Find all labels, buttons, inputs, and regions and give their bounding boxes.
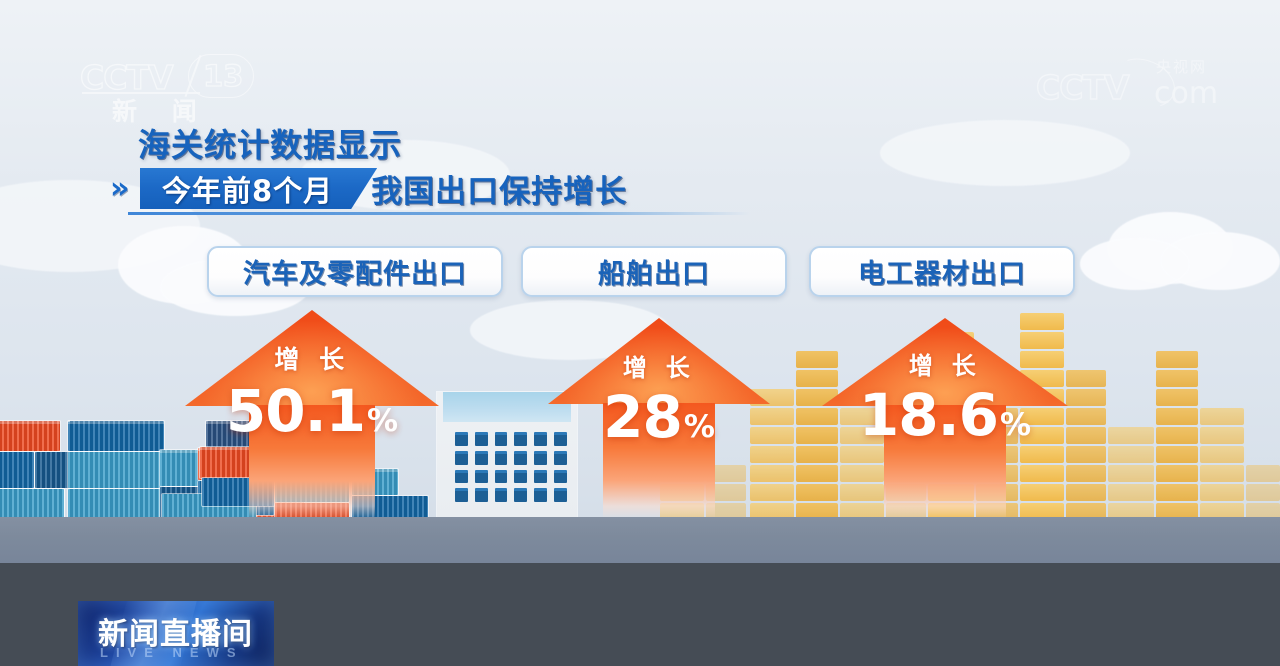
gold-coin [1156,446,1198,463]
gold-coin-stack [1108,427,1154,520]
cloud-shape [880,120,1130,186]
gold-coin [1066,484,1106,501]
category-label-electrical: 电工器材出口 [858,252,1026,291]
headline-underline [128,212,750,215]
gold-coin [1156,427,1198,444]
building-window [495,470,508,484]
gold-coin [1066,465,1106,482]
gold-coin [1066,408,1106,425]
cctvcom-domain: com [1154,76,1218,111]
shipping-container [0,421,60,451]
building-window [475,451,488,465]
shipping-container [0,489,64,519]
broadcast-frame: 增 长 50.1 % 增 长 28 % 增 长 18.6 % 汽车及零配件出口 … [0,0,1280,666]
ground-plane-upper [0,517,1280,563]
gold-coin-stack [1200,408,1244,520]
shipping-container [68,489,164,518]
gold-coin [1246,465,1280,482]
growth-label-2: 增 长 [548,348,770,383]
growth-value-3: 18.6 % [822,386,1068,444]
building-window [514,488,527,502]
gold-coin-stack [1156,351,1198,520]
cctv-channel-number: 13 [203,59,243,93]
shipping-container [68,421,164,451]
headline-banner-label: 今年前8个月 [162,168,333,210]
gold-coin [1156,351,1198,368]
category-pill-ships[interactable]: 船舶出口 [521,246,787,297]
category-label-ships: 船舶出口 [598,252,710,291]
headline-banner: 今年前8个月 [140,168,377,209]
gold-coin [1200,427,1244,444]
program-live-bug: 新闻直播间 LIVE NEWS [78,601,274,666]
gold-coin-stack [1246,465,1280,520]
chevron-marker-icon: » [110,170,138,208]
cctv13-subtitle-watermark: 新 闻 [112,92,210,128]
gold-coin [1156,484,1198,501]
growth-number-3: 18.6 [859,386,998,444]
category-label-auto-parts: 汽车及零配件出口 [243,252,467,291]
building-window [495,432,508,446]
building-window [514,432,527,446]
gold-coin [1156,389,1198,406]
building-window [514,470,527,484]
shipping-container [0,452,34,488]
building-window [534,451,547,465]
gold-coin [1108,446,1154,463]
gold-coin [1108,484,1154,501]
growth-number-1: 50.1 [226,382,365,440]
headline-tail: 我国出口保持增长 [371,166,627,211]
gold-coin-stack [1066,370,1106,520]
building-window [455,432,468,446]
gold-coin [1200,484,1244,501]
program-name-en: LIVE NEWS [100,645,244,660]
gold-coin [1108,427,1154,444]
gold-coin [1200,408,1244,425]
building-window [495,451,508,465]
gold-coin [1200,446,1244,463]
building-window [514,451,527,465]
gold-coin [1066,427,1106,444]
gold-coin [1156,370,1198,387]
gold-coin [1156,408,1198,425]
gold-coin [1200,465,1244,482]
growth-value-1: 50.1 % [185,382,439,440]
shipping-container [68,452,164,488]
building-window [534,432,547,446]
growth-value-2: 28 % [548,388,770,446]
building-window [475,432,488,446]
gold-coin [1066,389,1106,406]
gold-coin [1066,370,1106,387]
building-window [455,488,468,502]
gold-coin [1156,465,1198,482]
gold-coin [1108,465,1154,482]
percent-sign-3: % [1000,410,1031,441]
percent-sign-1: % [367,406,398,437]
cloud-shape [1080,238,1190,290]
category-pill-electrical[interactable]: 电工器材出口 [809,246,1075,297]
building-window [455,451,468,465]
building-window [534,488,547,502]
building-window [455,470,468,484]
building-window [534,470,547,484]
building-window [495,488,508,502]
growth-label-3: 增 长 [822,346,1068,381]
percent-sign-2: % [684,412,715,443]
headline-row: » 今年前8个月 我国出口保持增长 [110,166,627,211]
cctvcom-watermark: CCTV 央视网 com [1036,56,1252,112]
growth-number-2: 28 [603,388,682,446]
building-window [475,488,488,502]
building-window [475,470,488,484]
category-pill-auto-parts[interactable]: 汽车及零配件出口 [207,246,503,297]
gold-coin [1246,484,1280,501]
gold-coin [1066,446,1106,463]
growth-label-1: 增 长 [185,340,439,376]
cctvcom-cn-label: 央视网 [1156,56,1207,77]
